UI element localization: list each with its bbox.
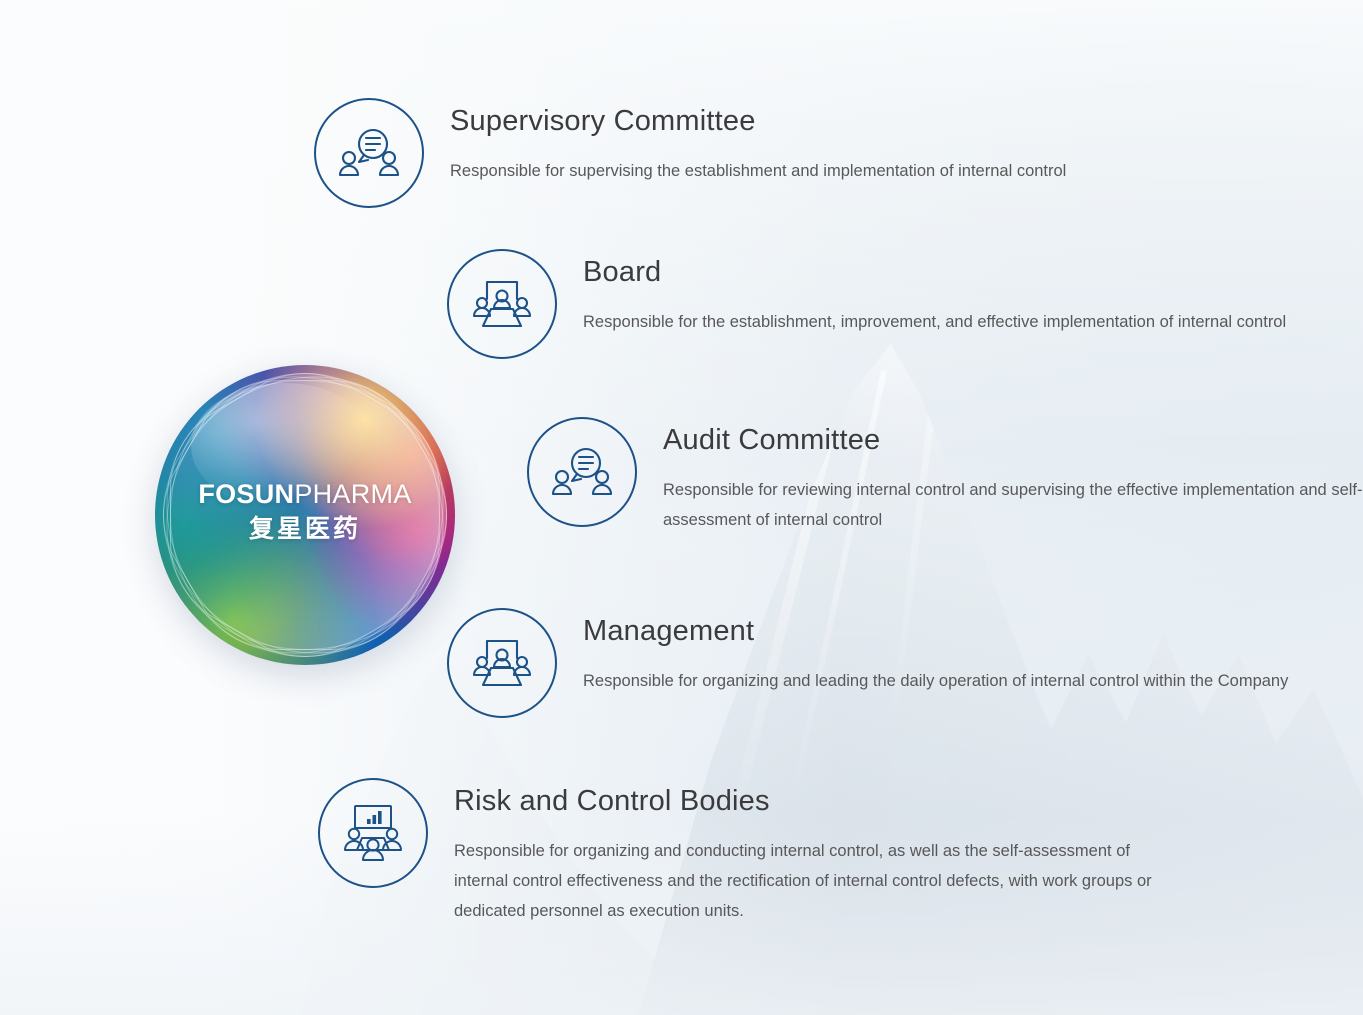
item-description: Responsible for supervising the establis… <box>450 156 1066 186</box>
item-description: Responsible for organizing and conductin… <box>454 836 1154 927</box>
list-item: Management Responsible for organizing an… <box>447 608 1288 718</box>
boardroom-table-icon <box>447 249 557 359</box>
item-text-block: Supervisory Committee Responsible for su… <box>450 98 1066 186</box>
item-description: Responsible for reviewing internal contr… <box>663 475 1363 535</box>
logo-name-bold: FOSUN <box>198 479 294 509</box>
item-text-block: Audit Committee Responsible for reviewin… <box>663 417 1363 535</box>
presentation-chart-team-icon <box>318 778 428 888</box>
list-item: Supervisory Committee Responsible for su… <box>314 98 1066 208</box>
logo-wordmark: FOSUNPHARMA 复星医药 <box>155 481 455 542</box>
item-description: Responsible for organizing and leading t… <box>583 666 1288 696</box>
item-text-block: Management Responsible for organizing an… <box>583 608 1288 696</box>
logo-name-chinese: 复星医药 <box>155 517 455 542</box>
list-item: Audit Committee Responsible for reviewin… <box>527 417 1363 535</box>
people-speech-bubble-icon <box>314 98 424 208</box>
item-title: Supervisory Committee <box>450 104 1066 139</box>
item-title: Management <box>583 614 1288 649</box>
item-title: Risk and Control Bodies <box>454 784 1154 819</box>
fosun-pharma-logo: FOSUNPHARMA 复星医药 <box>155 365 455 665</box>
people-speech-bubble-icon <box>527 417 637 527</box>
item-text-block: Risk and Control Bodies Responsible for … <box>454 778 1154 926</box>
item-title: Audit Committee <box>663 423 1363 458</box>
item-title: Board <box>583 255 1286 290</box>
list-item: Risk and Control Bodies Responsible for … <box>318 778 1154 926</box>
item-description: Responsible for the establishment, impro… <box>583 307 1286 337</box>
boardroom-table-icon <box>447 608 557 718</box>
item-text-block: Board Responsible for the establishment,… <box>583 249 1286 337</box>
list-item: Board Responsible for the establishment,… <box>447 249 1286 359</box>
logo-name-light: PHARMA <box>294 479 411 509</box>
